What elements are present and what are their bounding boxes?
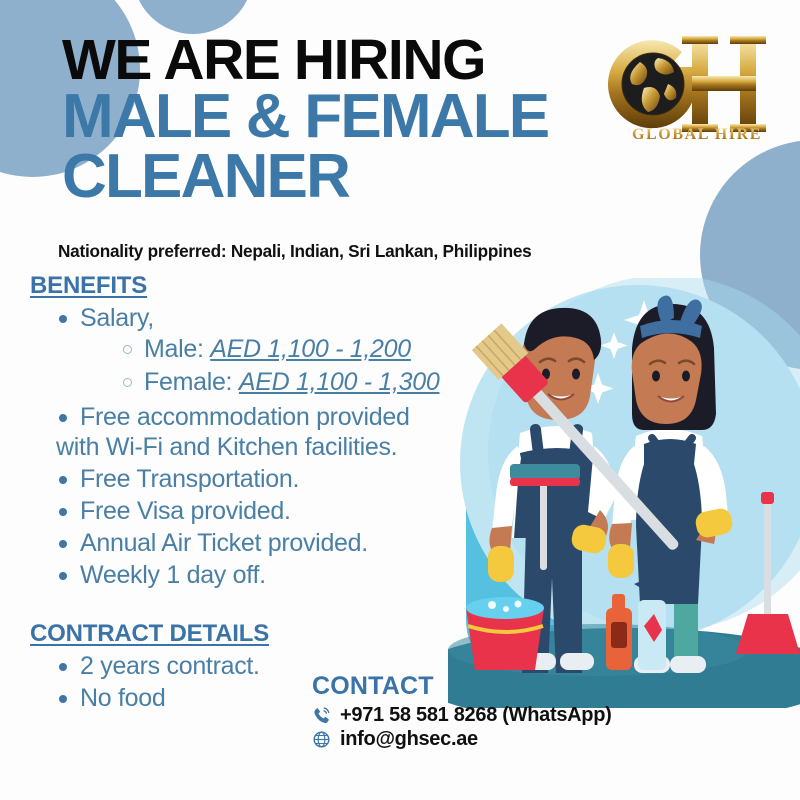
bucket-icon: [466, 597, 544, 670]
contract-duration: 2 years contract.: [80, 652, 260, 680]
global-hire-logo: [600, 22, 790, 167]
salary-sublist: Male: AED 1,100 - 1,200 Female: AED 1,10…: [80, 333, 500, 400]
salary-male-label: Male:: [144, 335, 210, 363]
contact-phone-row[interactable]: +971 58 581 8268 (WhatsApp): [312, 704, 611, 727]
contract-no-food: No food: [80, 684, 165, 712]
benefit-transportation: Free Transportation.: [80, 465, 299, 493]
salary-female-amount: AED 1,100 - 1,300: [239, 368, 440, 396]
list-item: Free accommodation provided with Wi-Fi a…: [56, 401, 500, 463]
benefits-list: Salary, Male: AED 1,100 - 1,200 Female: …: [30, 302, 500, 591]
contact-email-row[interactable]: info@ghsec.ae: [312, 728, 611, 751]
benefits-section: BENEFITS Salary, Male: AED 1,100 - 1,200…: [30, 272, 500, 591]
benefit-accommodation-line1: Free accommodation provided: [80, 403, 410, 431]
benefit-day-off: Weekly 1 day off.: [80, 561, 266, 589]
headline-male-female: MALE & FEMALE: [62, 87, 548, 147]
logo-letter-h: [682, 36, 766, 132]
benefit-air-ticket: Annual Air Ticket provided.: [80, 529, 368, 557]
cleaners-illustration: [448, 278, 800, 708]
contact-section: CONTACT +971 58 581 8268 (WhatsApp) info…: [312, 672, 611, 752]
list-item: Free Visa provided.: [56, 495, 500, 527]
contact-email-address: info@ghsec.ae: [340, 728, 478, 751]
list-item: Salary, Male: AED 1,100 - 1,200 Female: …: [56, 302, 500, 401]
headline-group: WE ARE HIRING MALE & FEMALE CLEANER: [62, 34, 548, 206]
contact-phone-number: +971 58 581 8268 (WhatsApp): [340, 704, 611, 727]
benefit-visa: Free Visa provided.: [80, 497, 291, 525]
list-item: Annual Air Ticket provided.: [56, 527, 500, 559]
benefit-salary-label: Salary,: [80, 304, 154, 332]
list-item: Weekly 1 day off.: [56, 559, 500, 591]
headline-we-are-hiring: WE ARE HIRING: [62, 34, 548, 87]
salary-female-label: Female:: [144, 368, 239, 396]
headline-cleaner: CLEANER: [62, 147, 548, 207]
contract-heading: CONTRACT DETAILS: [30, 620, 370, 648]
benefit-accommodation-line2: with Wi-Fi and Kitchen facilities.: [56, 432, 500, 462]
list-item: Female: AED 1,100 - 1,300: [120, 366, 500, 399]
contact-heading: CONTACT: [312, 672, 611, 701]
list-item: Male: AED 1,100 - 1,200: [120, 333, 500, 366]
globe-icon: [312, 730, 331, 749]
hiring-poster: GLOBAL HIRE WE ARE HIRING MALE & FEMALE …: [0, 0, 800, 800]
list-item: Free Transportation.: [56, 463, 500, 495]
phone-ringing-icon: [312, 706, 331, 725]
logo-wordmark: GLOBAL HIRE: [612, 126, 782, 144]
salary-male-amount: AED 1,100 - 1,200: [210, 335, 411, 363]
benefits-heading: BENEFITS: [30, 272, 500, 300]
nationality-line: Nationality preferred: Nepali, Indian, S…: [58, 241, 532, 262]
